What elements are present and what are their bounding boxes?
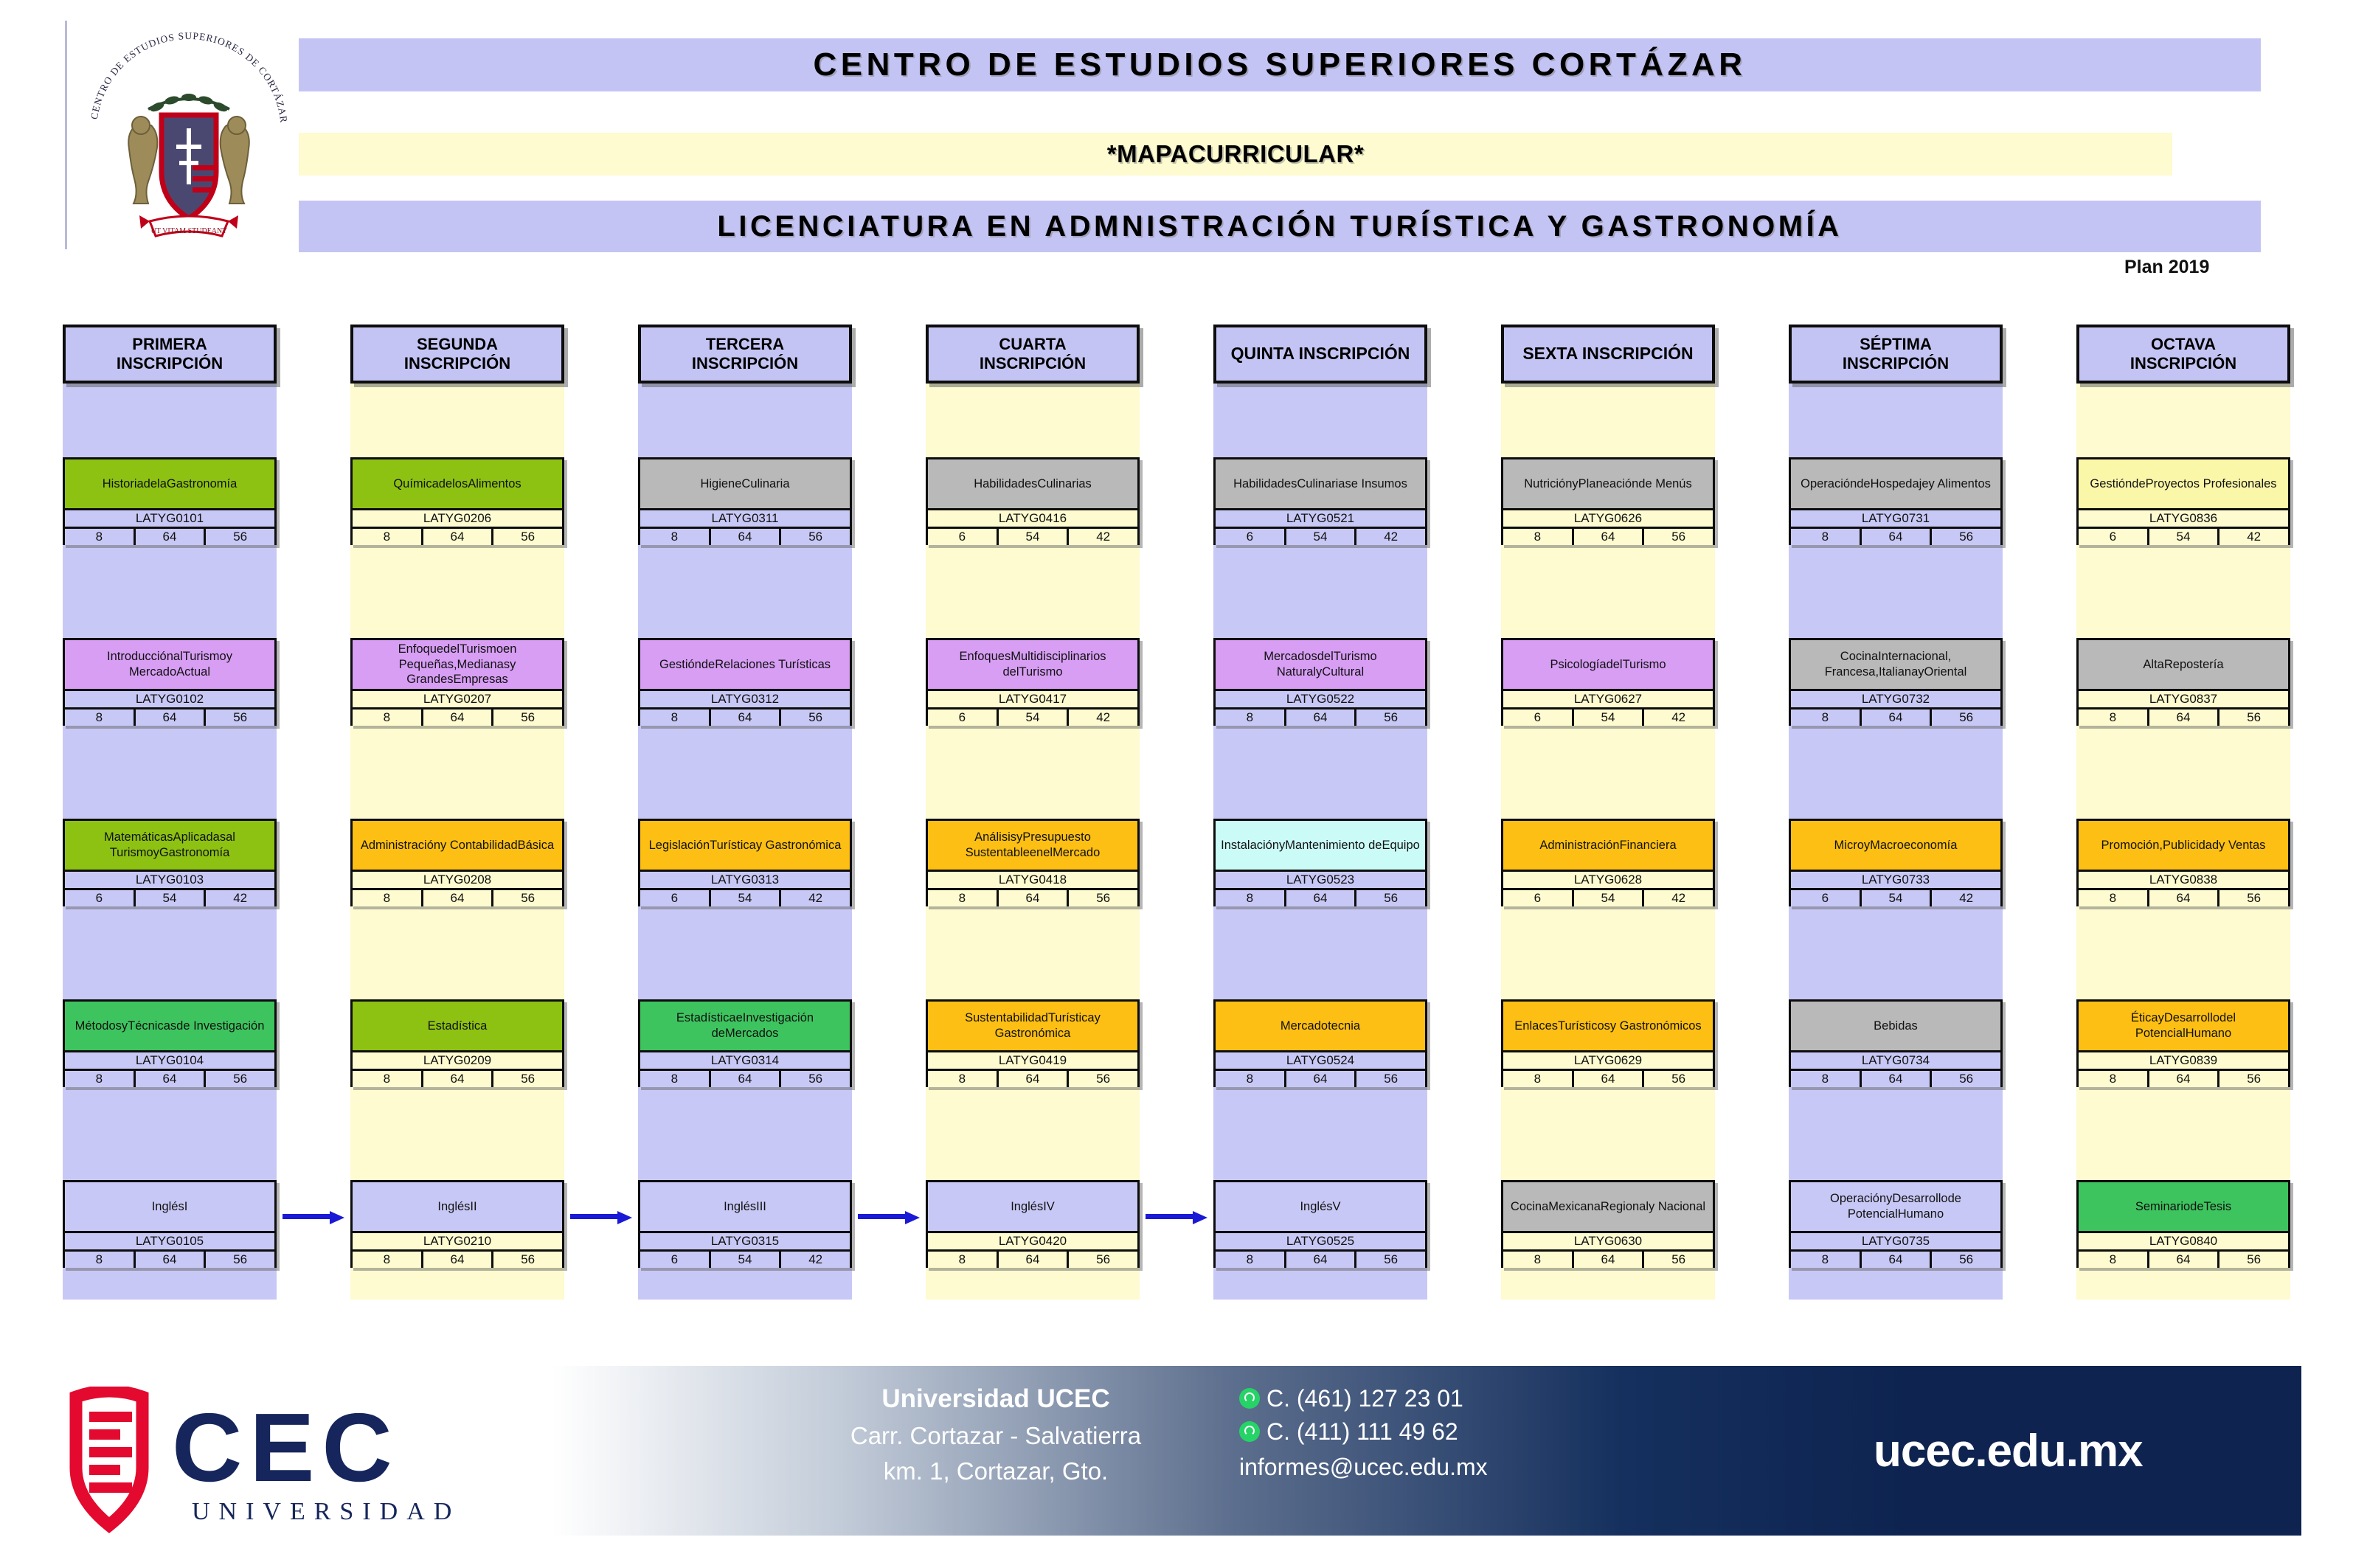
course-card[interactable]: OperaciónyDesarrollode PotencialHumanoLA… xyxy=(1789,1180,2003,1268)
course-code: LATYG0732 xyxy=(1791,689,2000,707)
course-code: LATYG0418 xyxy=(928,870,1137,888)
footer-university-name: Universidad UCEC xyxy=(774,1381,1217,1418)
arrow-head xyxy=(905,1211,920,1224)
column-header-4: CUARTAINSCRIPCIÓN xyxy=(926,325,1140,384)
course-card[interactable]: AdministraciónFinancieraLATYG062865442 xyxy=(1501,819,1715,906)
course-credit-hours-row: 65442 xyxy=(1216,527,1425,545)
course-contact-hours: 56 xyxy=(1642,1252,1713,1268)
column-header-line: INSCRIPCIÓN xyxy=(404,354,510,373)
course-card[interactable]: InglésIIILATYG031565442 xyxy=(638,1180,852,1268)
course-total-hours: 64 xyxy=(421,1252,492,1268)
course-credit-hours-row: 86456 xyxy=(640,707,850,726)
course-contact-hours: 56 xyxy=(1930,529,2000,545)
course-contact-hours: 56 xyxy=(1930,1071,2000,1087)
course-code: LATYG0522 xyxy=(1216,689,1425,707)
course-title: QuímicadelosAlimentos xyxy=(353,459,562,508)
course-contact-hours: 56 xyxy=(779,1071,850,1087)
course-title: EnfoquedelTurismoen Pequeñas,Medianasy G… xyxy=(353,640,562,689)
plan-year-label: Plan 2019 xyxy=(2124,257,2209,278)
course-title: MercadosdelTurismo NaturalyCultural xyxy=(1216,640,1425,689)
course-title: GestióndeRelaciones Turísticas xyxy=(640,640,850,689)
course-contact-hours: 56 xyxy=(2217,1252,2288,1268)
course-card[interactable]: LegislaciónTurísticay GastronómicaLATYG0… xyxy=(638,819,852,906)
course-card[interactable]: EnfoquedelTurismoen Pequeñas,Medianasy G… xyxy=(350,638,564,726)
course-total-hours: 54 xyxy=(709,1252,780,1268)
course-credits: 8 xyxy=(2079,1252,2147,1268)
course-code: LATYG0733 xyxy=(1791,870,2000,888)
course-title: Administracióny ContabilidadBásica xyxy=(353,821,562,870)
course-title: InglésI xyxy=(65,1182,274,1231)
curricular-map-banner: *MAPACURRICULAR* xyxy=(299,133,2172,176)
course-credit-hours-row: 86456 xyxy=(1503,527,1713,545)
course-credits: 6 xyxy=(640,1252,709,1268)
course-card[interactable]: NutriciónyPlaneaciónde MenúsLATYG0626864… xyxy=(1501,457,1715,545)
course-contact-hours: 56 xyxy=(1067,1071,1137,1087)
course-credit-hours-row: 65442 xyxy=(1503,888,1713,906)
course-title: OperaciónyDesarrollode PotencialHumano xyxy=(1791,1182,2000,1231)
course-credit-hours-row: 86456 xyxy=(1791,707,2000,726)
course-credit-hours-row: 86456 xyxy=(2079,1249,2288,1268)
course-credits: 8 xyxy=(353,890,421,906)
course-title: InstalaciónyMantenimiento deEquipo xyxy=(1216,821,1425,870)
course-code: LATYG0315 xyxy=(640,1231,850,1249)
course-credit-hours-row: 86456 xyxy=(2079,1069,2288,1087)
course-code: LATYG0839 xyxy=(2079,1050,2288,1069)
course-code: LATYG0838 xyxy=(2079,870,2288,888)
course-credit-hours-row: 65442 xyxy=(1503,707,1713,726)
course-credits: 6 xyxy=(2079,529,2147,545)
course-total-hours: 64 xyxy=(134,1071,204,1087)
course-title: Mercadotecnia xyxy=(1216,1002,1425,1050)
course-total-hours: 64 xyxy=(1572,1071,1643,1087)
course-code: LATYG0626 xyxy=(1503,508,1713,527)
course-card[interactable]: GestióndeRelaciones TurísticasLATYG03128… xyxy=(638,638,852,726)
page-footer: CEC UNIVERSIDAD Universidad UCEC Carr. C… xyxy=(0,1357,2353,1568)
course-total-hours: 64 xyxy=(2147,1071,2218,1087)
course-card[interactable]: MicroyMacroeconomíaLATYG073365442 xyxy=(1789,819,2003,906)
course-total-hours: 64 xyxy=(1860,710,1930,726)
course-credit-hours-row: 86456 xyxy=(1216,1249,1425,1268)
course-credits: 8 xyxy=(65,710,134,726)
course-card[interactable]: GestióndeProyectos ProfesionalesLATYG083… xyxy=(2076,457,2290,545)
course-title: InglésIV xyxy=(928,1182,1137,1231)
course-total-hours: 64 xyxy=(1860,529,1930,545)
footer-address-block: Universidad UCEC Carr. Cortazar - Salvat… xyxy=(774,1381,1217,1488)
arrow-shaft xyxy=(570,1214,617,1219)
course-code: LATYG0630 xyxy=(1503,1231,1713,1249)
course-total-hours: 64 xyxy=(709,1071,780,1087)
course-title: EnlacesTurísticosy Gastronómicos xyxy=(1503,1002,1713,1050)
course-credit-hours-row: 86456 xyxy=(640,1069,850,1087)
course-card[interactable]: MatemáticasAplicadasal TurismoyGastronom… xyxy=(63,819,277,906)
course-code: LATYG0525 xyxy=(1216,1231,1425,1249)
course-credits: 6 xyxy=(928,529,997,545)
course-contact-hours: 56 xyxy=(1354,1252,1425,1268)
course-title: AdministraciónFinanciera xyxy=(1503,821,1713,870)
column-header-6: SEXTA INSCRIPCIÓN xyxy=(1501,325,1715,384)
arrow-shaft xyxy=(1146,1214,1193,1219)
course-credit-hours-row: 86456 xyxy=(1216,707,1425,726)
course-credits: 8 xyxy=(928,890,997,906)
course-card[interactable]: CocinaInternacional, Francesa,ItalianayO… xyxy=(1789,638,2003,726)
course-total-hours: 64 xyxy=(134,1252,204,1268)
course-contact-hours: 56 xyxy=(2217,890,2288,906)
column-header-3: TERCERAINSCRIPCIÓN xyxy=(638,325,852,384)
page-header: CENTRO DE ESTUDIOS SUPERIORES DE CORTÁZA… xyxy=(0,0,2353,295)
course-card[interactable]: QuímicadelosAlimentosLATYG020686456 xyxy=(350,457,564,545)
course-total-hours: 64 xyxy=(997,890,1067,906)
course-contact-hours: 56 xyxy=(204,1252,274,1268)
course-card[interactable]: InglésILATYG010586456 xyxy=(63,1180,277,1268)
course-code: LATYG0627 xyxy=(1503,689,1713,707)
course-credit-hours-row: 86456 xyxy=(1791,527,2000,545)
course-credits: 6 xyxy=(640,890,709,906)
course-credit-hours-row: 86456 xyxy=(353,1249,562,1268)
course-title: OperacióndeHospedajey Alimentos xyxy=(1791,459,2000,508)
course-credits: 8 xyxy=(1216,890,1284,906)
course-card[interactable]: PsicologíadelTurismoLATYG062765442 xyxy=(1501,638,1715,726)
course-code: LATYG0102 xyxy=(65,689,274,707)
course-card[interactable]: AltaReposteríaLATYG083786456 xyxy=(2076,638,2290,726)
prerequisite-arrow-icon xyxy=(1146,1211,1207,1221)
course-total-hours: 64 xyxy=(709,529,780,545)
course-card[interactable]: InglésVLATYG052586456 xyxy=(1213,1180,1427,1268)
course-code: LATYG0314 xyxy=(640,1050,850,1069)
arrow-shaft xyxy=(283,1214,330,1219)
column-header-5: QUINTA INSCRIPCIÓN xyxy=(1213,325,1427,384)
course-credit-hours-row: 65442 xyxy=(2079,527,2288,545)
course-code: LATYG0840 xyxy=(2079,1231,2288,1249)
course-title: SeminariodeTesis xyxy=(2079,1182,2288,1231)
course-title: Bebidas xyxy=(1791,1002,2000,1050)
course-contact-hours: 56 xyxy=(1930,1252,2000,1268)
course-total-hours: 64 xyxy=(2147,890,2218,906)
column-header-line: SEGUNDA xyxy=(417,335,498,354)
course-total-hours: 64 xyxy=(1284,1252,1355,1268)
course-card[interactable]: InglésIVLATYG042086456 xyxy=(926,1180,1140,1268)
course-code: LATYG0735 xyxy=(1791,1231,2000,1249)
course-credit-hours-row: 86456 xyxy=(1791,1249,2000,1268)
course-code: LATYG0210 xyxy=(353,1231,562,1249)
course-credit-hours-row: 86456 xyxy=(65,527,274,545)
course-credits: 8 xyxy=(353,710,421,726)
course-credit-hours-row: 86456 xyxy=(928,1249,1137,1268)
course-contact-hours: 56 xyxy=(1354,710,1425,726)
course-total-hours: 64 xyxy=(2147,710,2218,726)
course-title: EnfoquesMultidisciplinarios delTurismo xyxy=(928,640,1137,689)
course-credit-hours-row: 86456 xyxy=(928,888,1137,906)
whatsapp-icon xyxy=(1239,1388,1260,1409)
course-total-hours: 64 xyxy=(1572,529,1643,545)
course-card[interactable]: MercadotecniaLATYG052486456 xyxy=(1213,999,1427,1087)
course-credit-hours-row: 65442 xyxy=(928,707,1137,726)
course-credits: 8 xyxy=(1216,710,1284,726)
course-credits: 8 xyxy=(1791,710,1860,726)
course-title: EstadísticaeInvestigación deMercados xyxy=(640,1002,850,1050)
course-contact-hours: 42 xyxy=(1067,529,1137,545)
course-total-hours: 64 xyxy=(1572,1252,1643,1268)
arrow-head xyxy=(330,1211,344,1224)
course-contact-hours: 56 xyxy=(779,710,850,726)
course-card[interactable]: HabilidadesCulinariase InsumosLATYG05216… xyxy=(1213,457,1427,545)
footer-phone-row-2[interactable]: C. (411) 111 49 62 xyxy=(1239,1415,1652,1449)
course-credits: 8 xyxy=(1503,529,1572,545)
column-header-line: INSCRIPCIÓN xyxy=(1843,354,1949,373)
course-card[interactable]: EnfoquesMultidisciplinarios delTurismoLA… xyxy=(926,638,1140,726)
course-code: LATYG0731 xyxy=(1791,508,2000,527)
course-contact-hours: 42 xyxy=(1930,890,2000,906)
column-header-line: SEXTA INSCRIPCIÓN xyxy=(1522,344,1693,364)
footer-address-line-1: Carr. Cortazar - Salvatierra xyxy=(774,1418,1217,1454)
arrow-head xyxy=(1193,1211,1207,1224)
course-title: InglésIII xyxy=(640,1182,850,1231)
course-card[interactable]: HistoriadelaGastronomíaLATYG010186456 xyxy=(63,457,277,545)
course-code: LATYG0104 xyxy=(65,1050,274,1069)
course-card[interactable]: Administracióny ContabilidadBásicaLATYG0… xyxy=(350,819,564,906)
course-title: HabilidadesCulinariase Insumos xyxy=(1216,459,1425,508)
course-code: LATYG0524 xyxy=(1216,1050,1425,1069)
crest-icon: CENTRO DE ESTUDIOS SUPERIORES DE CORTÁZA… xyxy=(67,21,311,249)
course-credits: 8 xyxy=(928,1071,997,1087)
course-code: LATYG0207 xyxy=(353,689,562,707)
course-card[interactable]: MercadosdelTurismo NaturalyCulturalLATYG… xyxy=(1213,638,1427,726)
course-credits: 8 xyxy=(353,1071,421,1087)
course-credits: 6 xyxy=(1503,710,1572,726)
course-title: LegislaciónTurísticay Gastronómica xyxy=(640,821,850,870)
course-code: LATYG0416 xyxy=(928,508,1137,527)
course-credit-hours-row: 86456 xyxy=(1216,888,1425,906)
course-code: LATYG0208 xyxy=(353,870,562,888)
svg-text:UT VITAM STUDEANT: UT VITAM STUDEANT xyxy=(151,227,227,235)
course-card[interactable]: CocinaMexicanaRegionaly NacionalLATYG063… xyxy=(1501,1180,1715,1268)
course-credits: 8 xyxy=(1503,1252,1572,1268)
course-contact-hours: 56 xyxy=(2217,710,2288,726)
footer-phone-row-1[interactable]: C. (461) 127 23 01 xyxy=(1239,1382,1652,1415)
course-title: CocinaInternacional, Francesa,ItalianayO… xyxy=(1791,640,2000,689)
course-total-hours: 64 xyxy=(421,890,492,906)
column-header-line: CUARTA xyxy=(999,335,1066,354)
course-contact-hours: 56 xyxy=(1930,710,2000,726)
course-code: LATYG0206 xyxy=(353,508,562,527)
course-contact-hours: 42 xyxy=(1642,710,1713,726)
course-code: LATYG0419 xyxy=(928,1050,1137,1069)
column-header-7: SÉPTIMAINSCRIPCIÓN xyxy=(1789,325,2003,384)
course-title: PsicologíadelTurismo xyxy=(1503,640,1713,689)
school-crest: CENTRO DE ESTUDIOS SUPERIORES DE CORTÁZA… xyxy=(65,21,311,249)
course-card[interactable]: InstalaciónyMantenimiento deEquipoLATYG0… xyxy=(1213,819,1427,906)
footer-phone-2: C. (411) 111 49 62 xyxy=(1266,1415,1458,1449)
course-title: GestióndeProyectos Profesionales xyxy=(2079,459,2288,508)
course-title: HigieneCulinaria xyxy=(640,459,850,508)
course-credits: 8 xyxy=(1216,1252,1284,1268)
course-total-hours: 54 xyxy=(1572,890,1643,906)
course-credit-hours-row: 86456 xyxy=(928,1069,1137,1087)
column-header-line: INSCRIPCIÓN xyxy=(117,354,223,373)
column-header-2: SEGUNDAINSCRIPCIÓN xyxy=(350,325,564,384)
course-card[interactable]: HigieneCulinariaLATYG031186456 xyxy=(638,457,852,545)
course-title: HabilidadesCulinarias xyxy=(928,459,1137,508)
course-card[interactable]: AnálisisyPresupuesto SustentableenelMerc… xyxy=(926,819,1140,906)
course-contact-hours: 56 xyxy=(491,529,562,545)
course-total-hours: 64 xyxy=(421,529,492,545)
course-credit-hours-row: 86456 xyxy=(353,707,562,726)
course-credits: 8 xyxy=(65,1071,134,1087)
column-header-line: QUINTA INSCRIPCIÓN xyxy=(1231,344,1410,364)
footer-email[interactable]: informes@ucec.edu.mx xyxy=(1239,1451,1652,1484)
course-title: AltaRepostería xyxy=(2079,640,2288,689)
course-contact-hours: 56 xyxy=(2217,1071,2288,1087)
svg-text:CENTRO DE ESTUDIOS SUPERIORES: CENTRO DE ESTUDIOS SUPERIORES DE CORTÁZA… xyxy=(89,30,290,124)
course-title: Estadística xyxy=(353,1002,562,1050)
course-title: NutriciónyPlaneaciónde Menús xyxy=(1503,459,1713,508)
course-contact-hours: 42 xyxy=(1067,710,1137,726)
course-card[interactable]: InglésIILATYG021086456 xyxy=(350,1180,564,1268)
course-contact-hours: 42 xyxy=(1642,890,1713,906)
course-card[interactable]: MétodosyTécnicasde InvestigaciónLATYG010… xyxy=(63,999,277,1087)
column-header-line: SÉPTIMA xyxy=(1860,335,1932,354)
course-card[interactable]: EstadísticaeInvestigación deMercadosLATY… xyxy=(638,999,852,1087)
course-credit-hours-row: 65442 xyxy=(1791,888,2000,906)
course-credit-hours-row: 86456 xyxy=(65,1069,274,1087)
course-contact-hours: 42 xyxy=(779,1252,850,1268)
course-total-hours: 54 xyxy=(709,890,780,906)
column-header-line: PRIMERA xyxy=(132,335,207,354)
column-header-line: INSCRIPCIÓN xyxy=(2130,354,2236,373)
column-header-line: INSCRIPCIÓN xyxy=(692,354,798,373)
arrow-shaft xyxy=(858,1214,905,1219)
course-code: LATYG0105 xyxy=(65,1231,274,1249)
course-credit-hours-row: 65442 xyxy=(640,888,850,906)
course-total-hours: 64 xyxy=(2147,1252,2218,1268)
course-card[interactable]: EnlacesTurísticosy GastronómicosLATYG062… xyxy=(1501,999,1715,1087)
footer-contact-block: C. (461) 127 23 01 C. (411) 111 49 62 in… xyxy=(1239,1382,1652,1483)
course-card[interactable]: BebidasLATYG073486456 xyxy=(1789,999,2003,1087)
course-card[interactable]: EstadísticaLATYG020986456 xyxy=(350,999,564,1087)
column-header-line: OCTAVA xyxy=(2151,335,2216,354)
course-title: CocinaMexicanaRegionaly Nacional xyxy=(1503,1182,1713,1231)
course-contact-hours: 56 xyxy=(1354,890,1425,906)
course-credits: 8 xyxy=(2079,1071,2147,1087)
course-contact-hours: 56 xyxy=(491,710,562,726)
school-name-banner: CENTRO DE ESTUDIOS SUPERIORES CORTÁZAR xyxy=(299,38,2261,91)
course-card[interactable]: OperacióndeHospedajey AlimentosLATYG0731… xyxy=(1789,457,2003,545)
course-credits: 8 xyxy=(640,710,709,726)
course-total-hours: 54 xyxy=(1860,890,1930,906)
course-title: Promoción,Publicidady Ventas xyxy=(2079,821,2288,870)
course-contact-hours: 56 xyxy=(1067,890,1137,906)
course-credit-hours-row: 86456 xyxy=(1216,1069,1425,1087)
course-total-hours: 54 xyxy=(997,710,1067,726)
course-code: LATYG0103 xyxy=(65,870,274,888)
course-title: MétodosyTécnicasde Investigación xyxy=(65,1002,274,1050)
course-code: LATYG0734 xyxy=(1791,1050,2000,1069)
course-credits: 8 xyxy=(353,1252,421,1268)
course-credit-hours-row: 86456 xyxy=(2079,707,2288,726)
course-credit-hours-row: 86456 xyxy=(353,527,562,545)
course-credit-hours-row: 65442 xyxy=(65,888,274,906)
course-credits: 8 xyxy=(640,529,709,545)
whatsapp-icon xyxy=(1239,1421,1260,1442)
course-total-hours: 64 xyxy=(997,1252,1067,1268)
course-credit-hours-row: 86456 xyxy=(1503,1249,1713,1268)
course-code: LATYG0313 xyxy=(640,870,850,888)
course-credits: 8 xyxy=(1216,1071,1284,1087)
course-credit-hours-row: 86456 xyxy=(640,527,850,545)
footer-website[interactable]: ucec.edu.mx xyxy=(1874,1425,2143,1477)
course-credits: 8 xyxy=(928,1252,997,1268)
course-title: MatemáticasAplicadasal TurismoyGastronom… xyxy=(65,821,274,870)
column-header-line: INSCRIPCIÓN xyxy=(980,354,1086,373)
course-code: LATYG0101 xyxy=(65,508,274,527)
course-total-hours: 64 xyxy=(1860,1071,1930,1087)
course-title: HistoriadelaGastronomía xyxy=(65,459,274,508)
course-total-hours: 54 xyxy=(2147,529,2218,545)
course-total-hours: 64 xyxy=(709,710,780,726)
course-code: LATYG0311 xyxy=(640,508,850,527)
course-contact-hours: 56 xyxy=(1642,529,1713,545)
course-contact-hours: 56 xyxy=(1642,1071,1713,1087)
course-credits: 8 xyxy=(65,1252,134,1268)
course-contact-hours: 42 xyxy=(2217,529,2288,545)
course-total-hours: 64 xyxy=(1284,890,1355,906)
course-card[interactable]: ÉticayDesarrollodel PotencialHumanoLATYG… xyxy=(2076,999,2290,1087)
course-card[interactable]: SustentabilidadTurísticay GastronómicaLA… xyxy=(926,999,1140,1087)
svg-text:CEC: CEC xyxy=(172,1393,400,1502)
column-header-1: PRIMERAINSCRIPCIÓN xyxy=(63,325,277,384)
course-code: LATYG0523 xyxy=(1216,870,1425,888)
course-code: LATYG0420 xyxy=(928,1231,1137,1249)
course-code: LATYG0312 xyxy=(640,689,850,707)
course-credits: 6 xyxy=(1216,529,1284,545)
course-code: LATYG0209 xyxy=(353,1050,562,1069)
course-credits: 8 xyxy=(640,1071,709,1087)
course-contact-hours: 56 xyxy=(204,529,274,545)
course-code: LATYG0628 xyxy=(1503,870,1713,888)
course-card[interactable]: IntroducciónalTurismoy MercadoActualLATY… xyxy=(63,638,277,726)
prerequisite-arrow-icon xyxy=(283,1211,344,1221)
course-credit-hours-row: 86456 xyxy=(353,888,562,906)
course-credits: 8 xyxy=(1791,1071,1860,1087)
course-total-hours: 64 xyxy=(134,529,204,545)
course-credits: 8 xyxy=(65,529,134,545)
course-code: LATYG0836 xyxy=(2079,508,2288,527)
course-credits: 8 xyxy=(1791,529,1860,545)
cec-universidad-logo: CEC UNIVERSIDAD xyxy=(63,1387,520,1534)
prerequisite-arrow-icon xyxy=(858,1211,920,1221)
course-total-hours: 54 xyxy=(997,529,1067,545)
course-credits: 6 xyxy=(65,890,134,906)
footer-address-line-2: km. 1, Cortazar, Gto. xyxy=(774,1454,1217,1489)
course-contact-hours: 56 xyxy=(491,1252,562,1268)
course-total-hours: 64 xyxy=(421,710,492,726)
course-title: InglésV xyxy=(1216,1182,1425,1231)
course-credits: 8 xyxy=(1503,1071,1572,1087)
course-card[interactable]: HabilidadesCulinariasLATYG041665442 xyxy=(926,457,1140,545)
course-credits: 8 xyxy=(1791,1252,1860,1268)
course-title: SustentabilidadTurísticay Gastronómica xyxy=(928,1002,1137,1050)
course-code: LATYG0417 xyxy=(928,689,1137,707)
course-card[interactable]: SeminariodeTesisLATYG084086456 xyxy=(2076,1180,2290,1268)
course-title: MicroyMacroeconomía xyxy=(1791,821,2000,870)
course-code: LATYG0521 xyxy=(1216,508,1425,527)
course-total-hours: 64 xyxy=(1284,1071,1355,1087)
course-contact-hours: 56 xyxy=(1354,1071,1425,1087)
course-credit-hours-row: 86456 xyxy=(1791,1069,2000,1087)
course-credit-hours-row: 86456 xyxy=(353,1069,562,1087)
course-total-hours: 54 xyxy=(134,890,204,906)
course-credits: 6 xyxy=(1503,890,1572,906)
course-card[interactable]: Promoción,Publicidady VentasLATYG0838864… xyxy=(2076,819,2290,906)
